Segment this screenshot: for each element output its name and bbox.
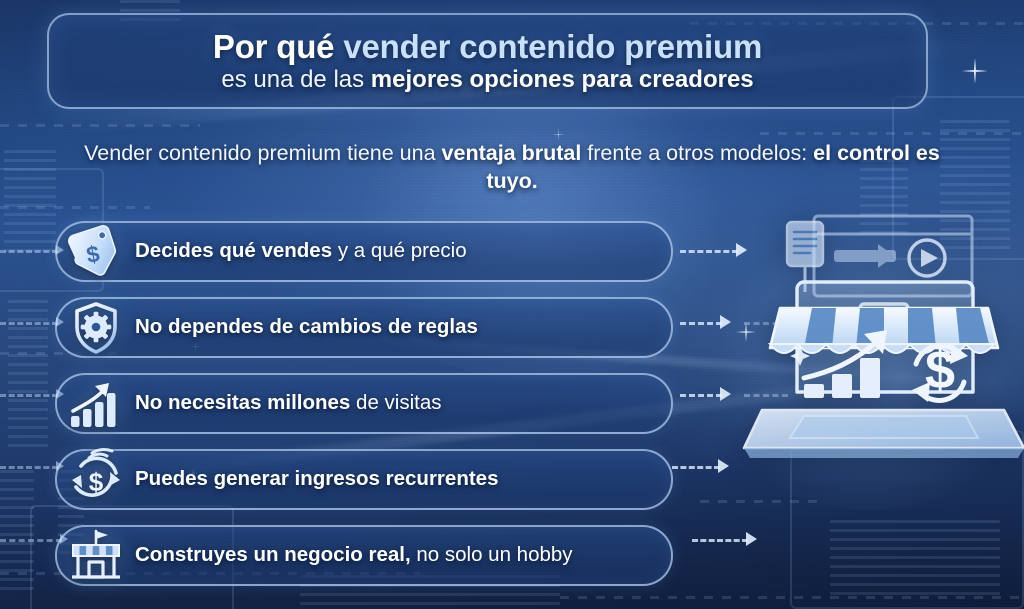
connector-in-arrow-4 xyxy=(56,461,64,471)
benefit-pill-4[interactable]: $ Puedes generar ingresos recurrentes xyxy=(55,449,673,510)
price-tag-dollar-icon: $ xyxy=(57,223,135,280)
shield-gear-icon xyxy=(57,299,135,356)
connector-in-arrow-1 xyxy=(56,245,64,255)
subtitle-part-1: Vender contenido premium tiene una xyxy=(84,141,441,165)
svg-text:$: $ xyxy=(89,467,104,497)
connector-line-3 xyxy=(680,394,722,397)
bg-dash-row xyxy=(0,206,150,209)
connector-arrow-3 xyxy=(720,387,731,401)
recurring-revenue-dollar-icon: $ xyxy=(57,451,135,508)
connector-arrow-5 xyxy=(746,532,757,546)
connector-in-arrow-2 xyxy=(56,317,64,327)
benefit-label-3-regular: de visitas xyxy=(350,391,441,414)
benefit-pill-2[interactable]: No dependes de cambios de reglas xyxy=(55,297,673,358)
benefit-label-1-bold: Decides qué vendes xyxy=(135,239,332,262)
bg-dash-row xyxy=(700,500,820,503)
benefit-label-4-bold: Puedes generar ingresos recurrentes xyxy=(135,467,498,490)
page-title-line2: es una de las mejores opciones para crea… xyxy=(221,67,753,92)
bg-dash-row xyxy=(760,132,1024,135)
connector-in-1 xyxy=(0,250,58,253)
benefit-label-5: Construyes un negocio real, no solo un h… xyxy=(135,545,573,566)
storefront-icon xyxy=(57,527,135,584)
title-banner: Por qué vender contenido premium es una … xyxy=(47,13,928,109)
benefit-label-3-bold: No necesitas millones xyxy=(135,391,350,414)
title-highlight-1: vender contenido premium xyxy=(343,28,762,65)
connector-in-4 xyxy=(0,466,58,469)
benefit-label-2-bold: No dependes de cambios de reglas xyxy=(135,315,478,338)
connector-in-arrow-3 xyxy=(56,389,64,399)
connector-arrow-2 xyxy=(720,315,731,329)
subtitle-part-2: frente a otros modelos: xyxy=(581,141,813,165)
svg-text:$: $ xyxy=(925,340,955,400)
connector-in-5 xyxy=(0,539,62,542)
subtitle-text: Vender contenido premium tiene una venta… xyxy=(62,140,962,195)
benefit-label-5-bold: Construyes un negocio real, xyxy=(135,543,411,566)
page-title-line1: Por qué vender contenido premium xyxy=(213,30,762,64)
title-plain-1: Por qué xyxy=(213,28,343,65)
benefit-label-1: Decides qué vendes y a qué precio xyxy=(135,241,467,262)
title-plain-2: es una de las xyxy=(221,66,370,93)
connector-line-5 xyxy=(692,539,748,542)
benefit-label-5-regular: no solo un hobby xyxy=(411,543,573,566)
benefit-label-1-regular: y a qué precio xyxy=(332,239,466,262)
benefit-pill-5[interactable]: Construyes un negocio real, no solo un h… xyxy=(55,525,673,586)
connector-in-arrow-5 xyxy=(60,534,68,544)
sparkle-icon xyxy=(962,58,988,84)
connector-arrow-4 xyxy=(718,459,729,473)
infographic-canvas: Por qué vender contenido premium es una … xyxy=(0,0,1024,609)
connector-line-4 xyxy=(672,466,720,469)
subtitle-highlight-1: ventaja brutal xyxy=(442,141,582,165)
growth-bar-chart-icon xyxy=(57,375,135,432)
connector-line-1 xyxy=(680,250,738,253)
title-highlight-2: mejores opciones para creadores xyxy=(371,66,754,93)
benefit-list: $ Decides qué vendes y a qué precio xyxy=(55,221,673,601)
benefit-pill-3[interactable]: No necesitas millones de visitas xyxy=(55,373,673,434)
benefit-pill-1[interactable]: $ Decides qué vendes y a qué precio xyxy=(55,221,673,282)
connector-in-2 xyxy=(0,322,58,325)
laptop-storefront-ecommerce-illustration: $ xyxy=(742,196,1024,486)
connector-in-3 xyxy=(0,394,58,397)
benefit-label-4: Puedes generar ingresos recurrentes xyxy=(135,469,498,490)
connector-line-2 xyxy=(680,322,722,325)
benefit-label-3: No necesitas millones de visitas xyxy=(135,393,442,414)
benefit-label-2: No dependes de cambios de reglas xyxy=(135,317,478,338)
